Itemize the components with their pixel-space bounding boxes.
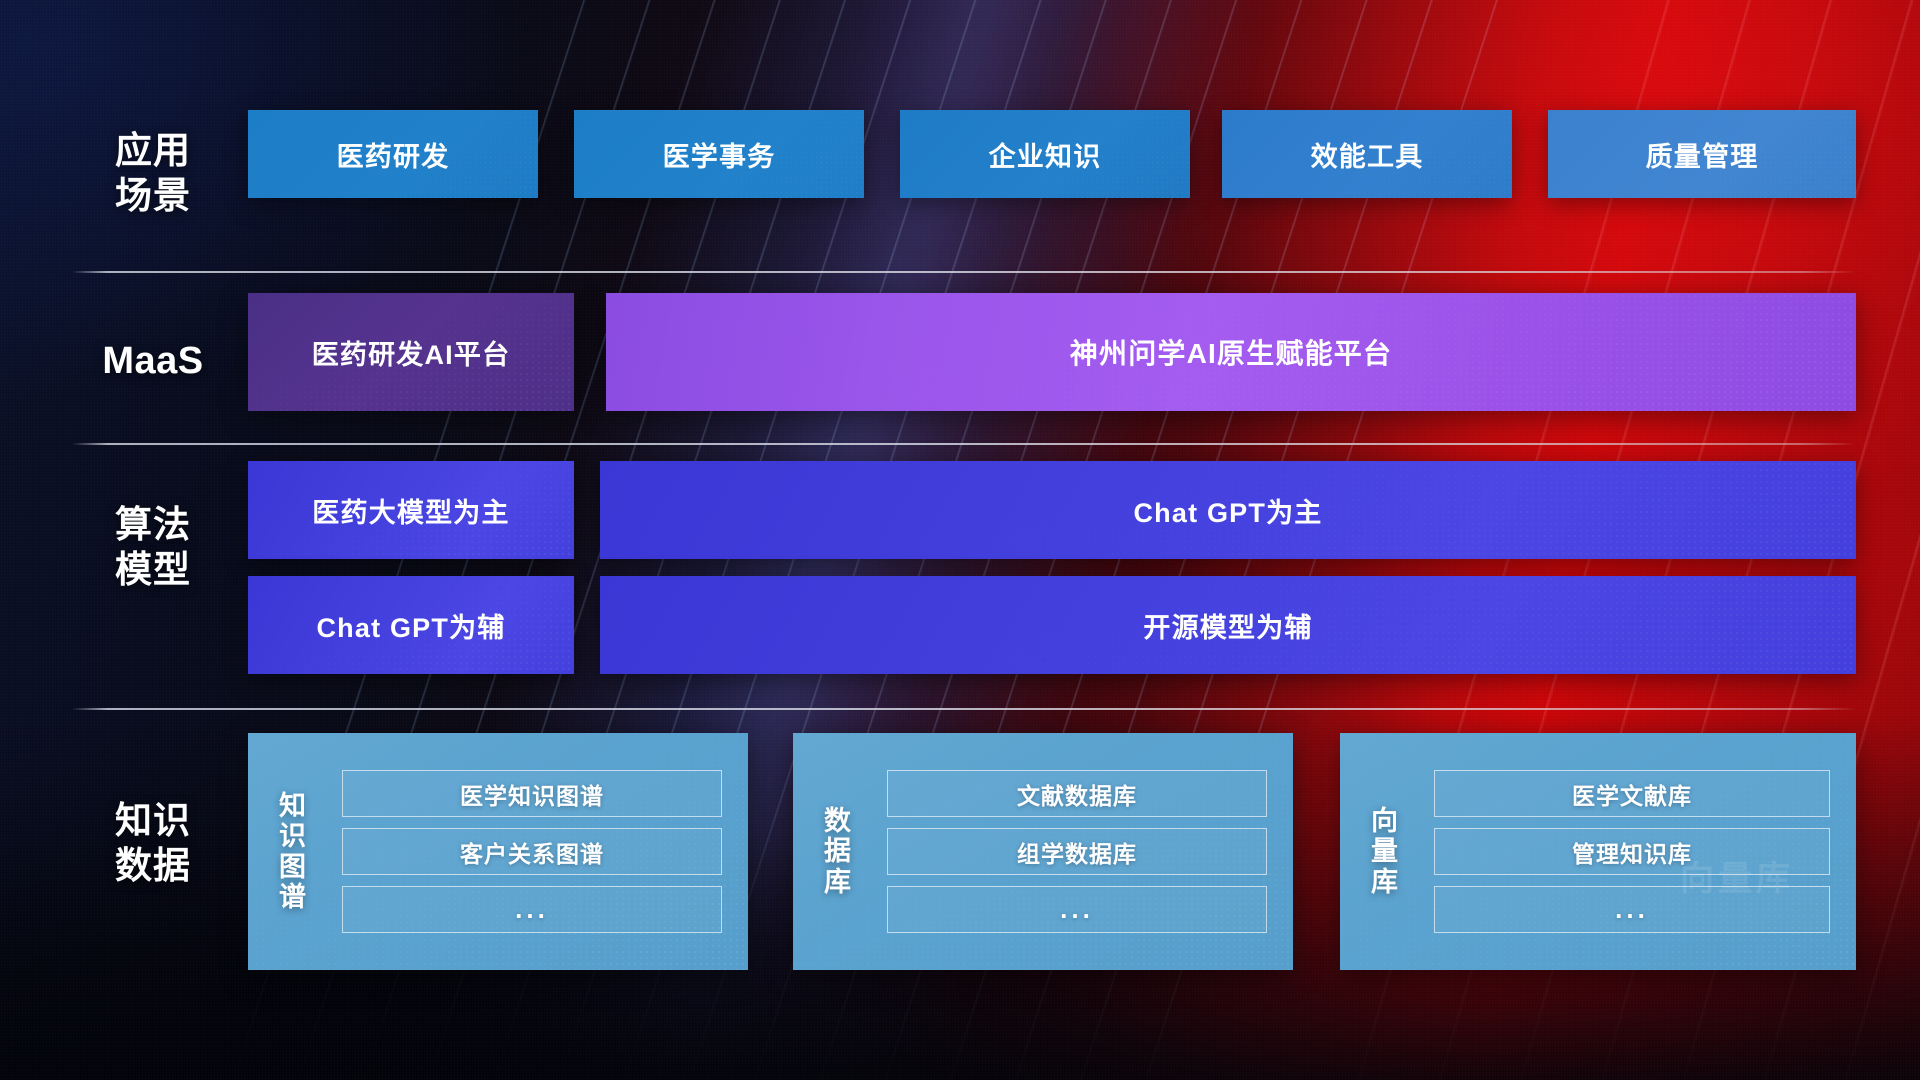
knowledge-card-vector-store[interactable]: 向量库 向量库 医学文献库 管理知识库 ...	[1340, 733, 1856, 970]
knowledge-item-more[interactable]: ...	[342, 886, 722, 933]
knowledge-card-side-label: 知识图谱	[248, 791, 332, 912]
knowledge-card-knowledge-graph[interactable]: 知识图谱 医学知识图谱 客户关系图谱 ...	[248, 733, 748, 970]
architecture-diagram: 应用 场景 医药研发 医学事务 企业知识 效能工具 质量管理 MaaS 医药研发…	[0, 0, 1920, 1080]
row-label-line-1: 知识	[72, 798, 234, 843]
knowledge-card-side-label: 数据库	[793, 806, 877, 897]
knowledge-item[interactable]: 管理知识库	[1434, 828, 1830, 875]
row-label-line-1: 算法	[72, 502, 234, 547]
row-divider-2	[72, 443, 1856, 445]
row-divider-3	[72, 708, 1856, 710]
knowledge-item-list: 文献数据库 组学数据库 ...	[877, 770, 1293, 933]
algo-box-label: 开源模型为辅	[1143, 606, 1312, 645]
row-label-text: MaaS	[72, 338, 234, 384]
row-label-line-2: 模型	[72, 547, 234, 592]
knowledge-card-database[interactable]: 数据库 文献数据库 组学数据库 ...	[793, 733, 1293, 970]
maas-box-label: 神州问学AI原生赋能平台	[1070, 332, 1392, 372]
knowledge-item-list: 医学文献库 管理知识库 ...	[1424, 770, 1856, 933]
algo-box-opensource-model-secondary[interactable]: 开源模型为辅	[600, 576, 1856, 674]
algo-box-chatgpt-primary[interactable]: Chat GPT为主	[600, 461, 1856, 559]
algo-box-pharma-large-model-primary[interactable]: 医药大模型为主	[248, 461, 574, 559]
knowledge-item-list: 医学知识图谱 客户关系图谱 ...	[332, 770, 748, 933]
knowledge-item[interactable]: 文献数据库	[887, 770, 1267, 817]
row-label-maas: MaaS	[72, 338, 234, 384]
row-label-line-2: 场景	[72, 173, 234, 218]
scene-box-drug-rd[interactable]: 医药研发	[248, 110, 538, 198]
knowledge-item[interactable]: 医学文献库	[1434, 770, 1830, 817]
row-label-line-1: 应用	[72, 128, 234, 173]
scene-box-label: 医药研发	[337, 135, 450, 174]
maas-box-shenzhou-wenxue-platform[interactable]: 神州问学AI原生赋能平台	[606, 293, 1856, 411]
knowledge-card-side-label: 向量库	[1340, 806, 1424, 897]
knowledge-item[interactable]: 客户关系图谱	[342, 828, 722, 875]
maas-box-label: 医药研发AI平台	[312, 333, 511, 372]
scene-box-label: 企业知识	[989, 135, 1102, 174]
row-label-algorithm-model: 算法 模型	[72, 502, 234, 592]
scene-box-label: 质量管理	[1646, 135, 1759, 174]
scene-box-label: 效能工具	[1311, 135, 1424, 174]
scene-box-medical-affairs[interactable]: 医学事务	[574, 110, 864, 198]
scene-box-label: 医学事务	[663, 135, 776, 174]
algo-box-label: 医药大模型为主	[312, 491, 509, 530]
knowledge-item[interactable]: 组学数据库	[887, 828, 1267, 875]
algo-box-label: Chat GPT为辅	[316, 606, 505, 645]
row-divider-1	[72, 271, 1856, 273]
scene-box-enterprise-knowledge[interactable]: 企业知识	[900, 110, 1190, 198]
row-label-line-2: 数据	[72, 843, 234, 888]
row-label-application-scenario: 应用 场景	[72, 128, 234, 218]
knowledge-item[interactable]: 医学知识图谱	[342, 770, 722, 817]
algo-box-label: Chat GPT为主	[1133, 491, 1322, 530]
scene-box-quality-management[interactable]: 质量管理	[1548, 110, 1856, 198]
knowledge-item-more[interactable]: ...	[887, 886, 1267, 933]
knowledge-item-more[interactable]: ...	[1434, 886, 1830, 933]
maas-box-drug-rd-ai-platform[interactable]: 医药研发AI平台	[248, 293, 574, 411]
scene-box-efficiency-tools[interactable]: 效能工具	[1222, 110, 1512, 198]
row-label-knowledge-data: 知识 数据	[72, 798, 234, 888]
algo-box-chatgpt-secondary[interactable]: Chat GPT为辅	[248, 576, 574, 674]
